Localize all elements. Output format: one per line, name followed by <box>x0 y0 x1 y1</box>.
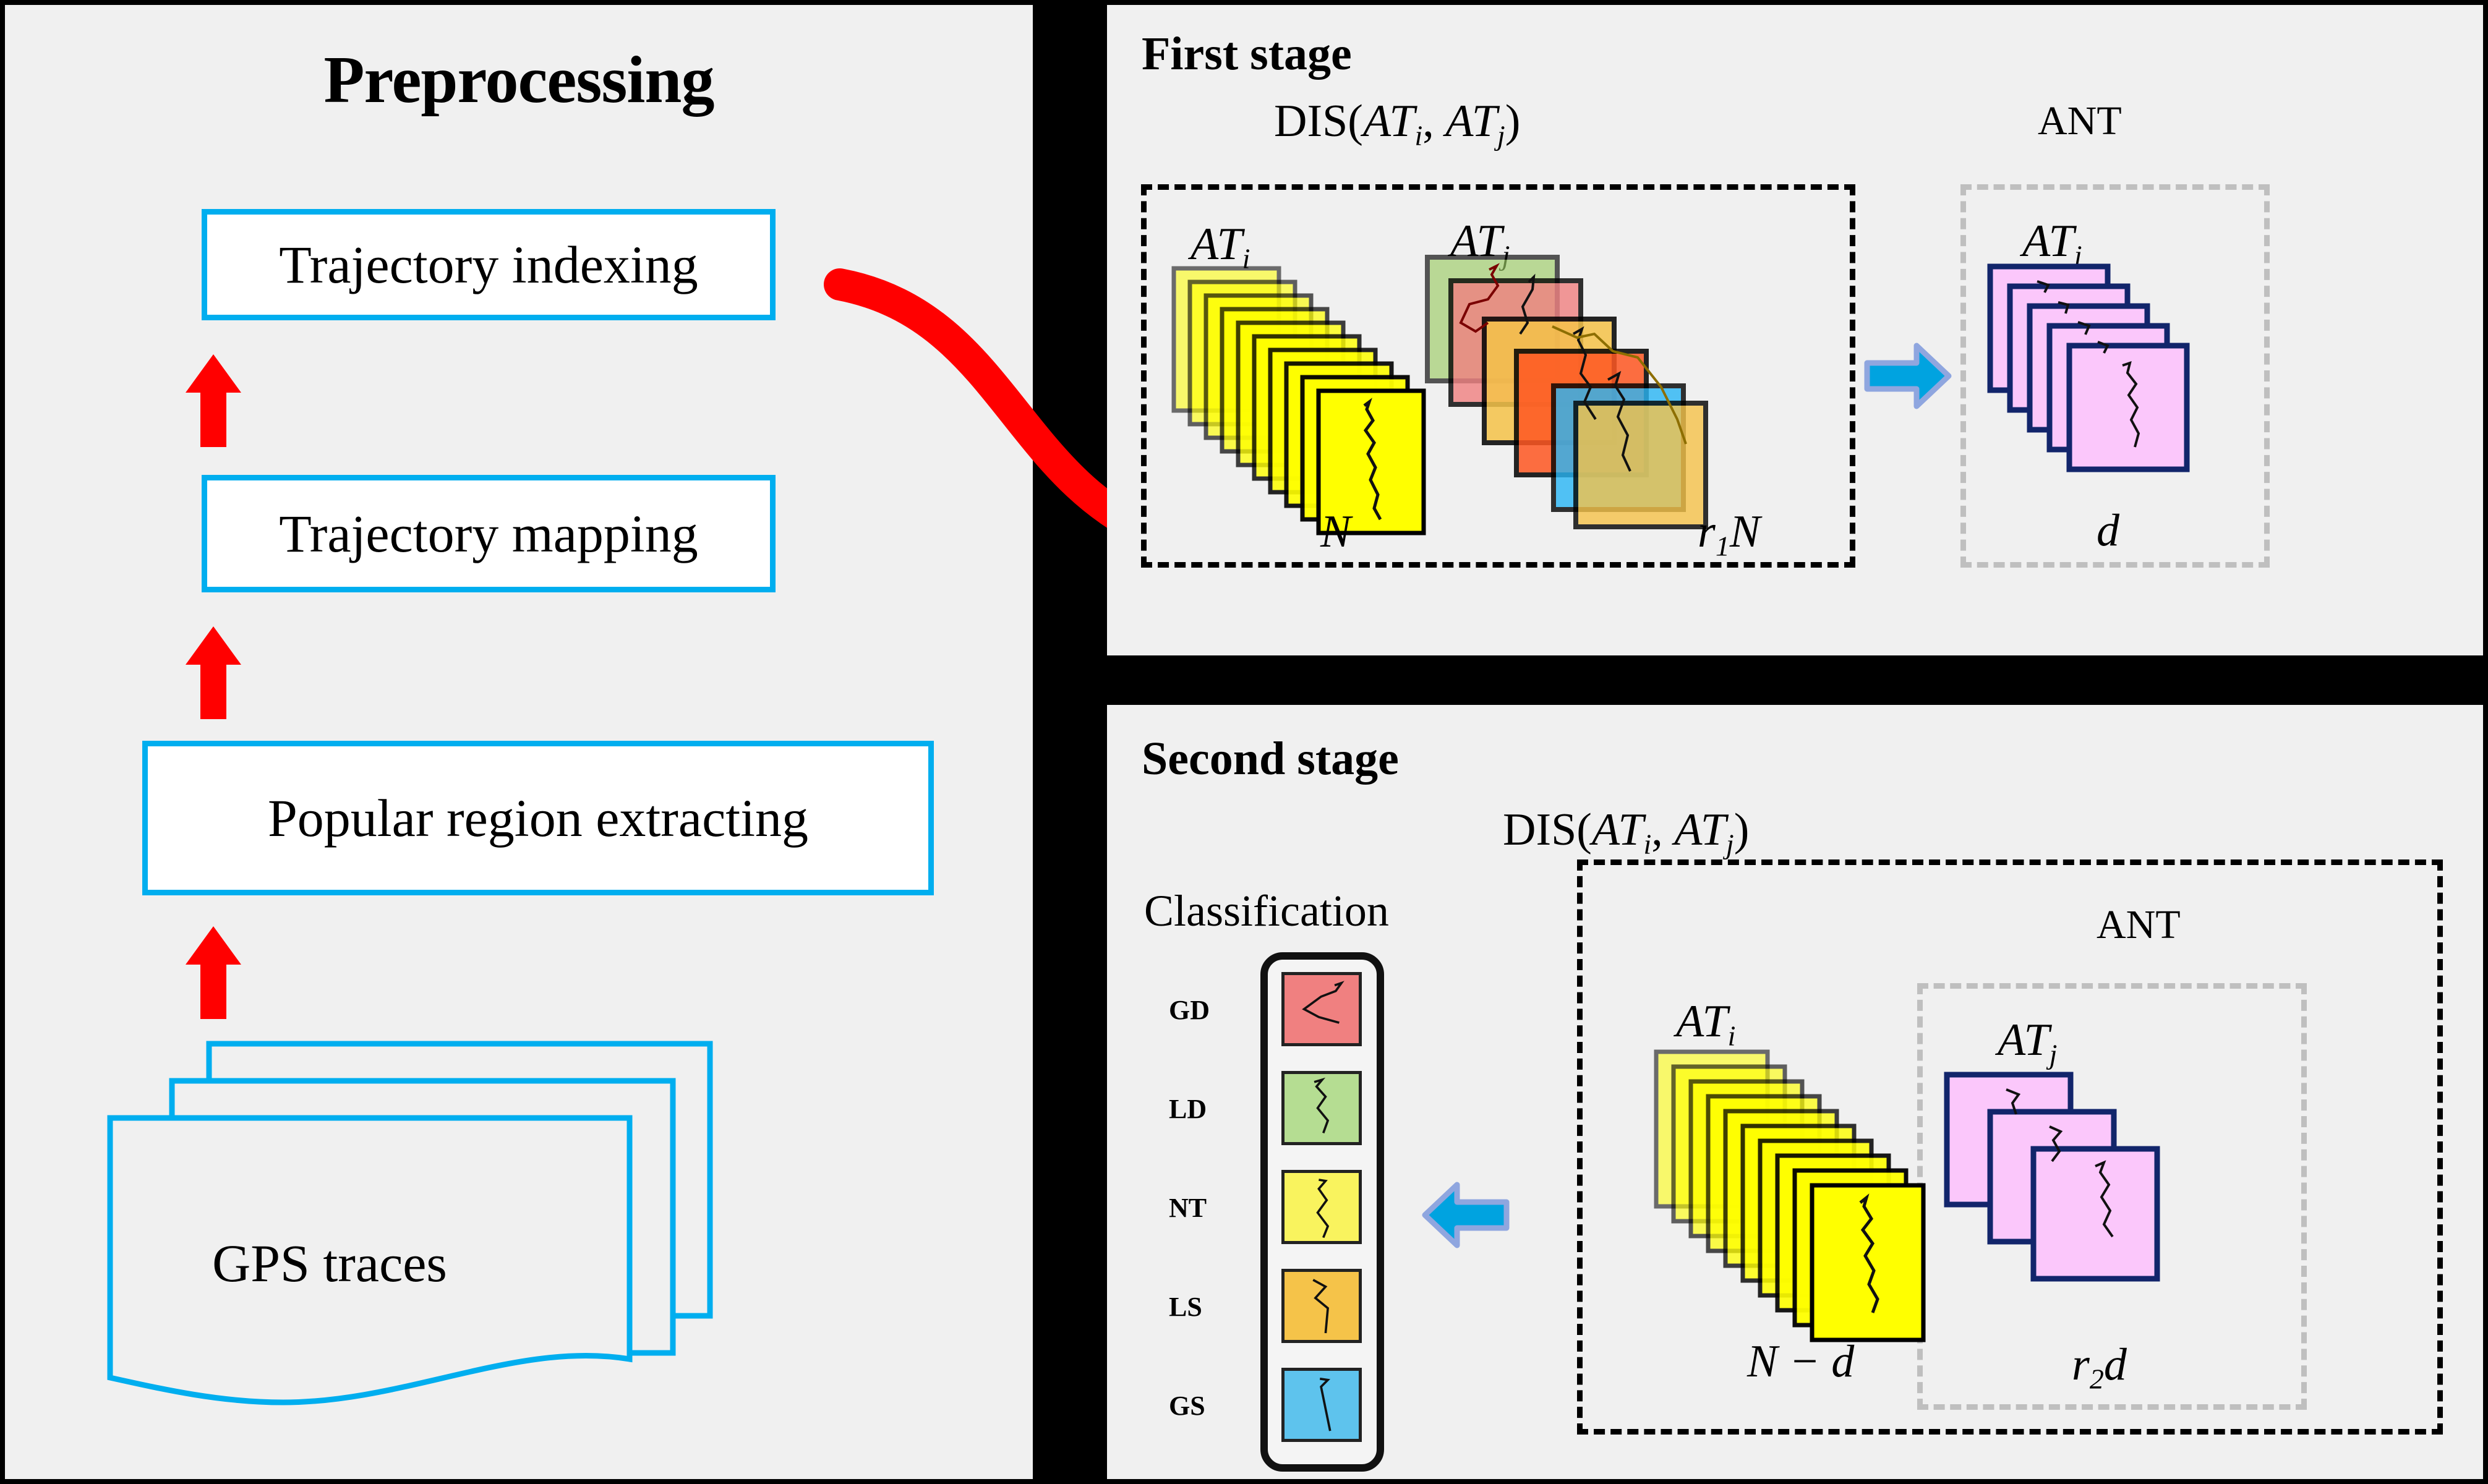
step-label: Trajectory mapping <box>279 503 698 565</box>
diagram-canvas: Preprocessing Trajectory indexing Trajec… <box>0 0 2488 1484</box>
r1n-base: r <box>1698 506 1716 557</box>
class-chip-ld <box>1281 1071 1362 1145</box>
class-chip-nt <box>1281 1170 1362 1244</box>
class-chip-gs <box>1281 1368 1362 1442</box>
step-label: Popular region extracting <box>268 787 808 849</box>
dis-a: AT <box>1363 96 1415 147</box>
first-stage-d-label: d <box>2097 505 2119 557</box>
page-title: Preprocessing <box>5 42 1033 119</box>
first-stage-multicolor-card-stack <box>1422 252 1868 561</box>
r1n-sub: 1 <box>1716 531 1730 562</box>
first-stage-pink-card-stack <box>1985 262 2257 521</box>
dis-b-sub: j <box>1497 120 1505 151</box>
dis2-b: AT <box>1674 804 1726 855</box>
dis-close: ) <box>1505 96 1521 147</box>
class-chip-gd <box>1281 972 1362 1046</box>
first-stage-r1n-label: r1N <box>1698 506 1760 563</box>
preprocessing-panel: Preprocessing Trajectory indexing Trajec… <box>5 5 1033 1479</box>
classification-title: Classification <box>1144 885 1389 937</box>
dis-a-sub: i <box>1415 120 1423 151</box>
ant-atj-base: AT <box>2022 216 2074 267</box>
second-stage-ant-atj-label: ATj <box>1998 1014 2057 1071</box>
class-label-ls: LS <box>1169 1291 1202 1323</box>
second-stage-n-minus-d-label: N − d <box>1747 1336 1854 1388</box>
second-stage-panel: Second stage DIS(ATi, ATj) Classificatio… <box>1107 705 2483 1479</box>
dis2-comma: , <box>1651 804 1674 855</box>
dis-b: AT <box>1445 96 1497 147</box>
dis2-fn: DIS( <box>1503 804 1592 855</box>
blue-right-arrow-icon <box>1865 342 1951 410</box>
first-stage-dis-label: DIS(ATi, ATj) <box>1274 95 1520 152</box>
second-stage-ati-label: ATi <box>1676 996 1735 1052</box>
ati2-sub: i <box>1728 1020 1736 1052</box>
dis2-a-sub: i <box>1644 829 1652 860</box>
second-stage-ant-label: ANT <box>2097 902 2181 949</box>
step-box-trajectory-indexing[interactable]: Trajectory indexing <box>202 209 776 320</box>
dis2-a: AT <box>1592 804 1644 855</box>
class-label-ld: LD <box>1169 1093 1207 1125</box>
class-chip-ls <box>1281 1269 1362 1343</box>
ati2-base: AT <box>1676 996 1728 1047</box>
red-up-arrow-2 <box>186 626 241 719</box>
ant2-atj-sub: j <box>2050 1039 2058 1070</box>
blue-left-arrow-icon <box>1416 1181 1509 1249</box>
second-stage-dis-label: DIS(ATi, ATj) <box>1503 804 1749 861</box>
r2d-base: r <box>2072 1339 2090 1390</box>
gps-traces-documents <box>85 1031 827 1415</box>
step-box-popular-region-extracting[interactable]: Popular region extracting <box>142 741 934 895</box>
gps-traces-label: GPS traces <box>5 1232 654 1294</box>
step-label: Trajectory indexing <box>279 234 698 296</box>
class-label-nt: NT <box>1169 1192 1207 1224</box>
second-stage-title: Second stage <box>1142 732 1399 786</box>
second-stage-pink-card-stack <box>1942 1070 2264 1336</box>
r1n-tail: N <box>1730 506 1760 557</box>
ant2-atj-base: AT <box>1998 1015 2050 1065</box>
dis-comma: , <box>1422 96 1445 147</box>
step-box-trajectory-mapping[interactable]: Trajectory mapping <box>202 475 776 592</box>
class-label-gs: GS <box>1169 1390 1205 1422</box>
dis2-b-sub: j <box>1726 829 1734 860</box>
second-stage-r2d-label: r2d <box>2072 1339 2127 1396</box>
dis2-close: ) <box>1734 804 1750 855</box>
r2d-tail: d <box>2104 1339 2127 1390</box>
red-up-arrow-3 <box>186 926 241 1019</box>
red-up-arrow-1 <box>186 354 241 447</box>
first-stage-ant-label: ANT <box>2038 98 2122 145</box>
dis-fn: DIS( <box>1274 96 1363 147</box>
ati-base: AT <box>1191 219 1242 270</box>
first-stage-n-label: N <box>1320 506 1351 558</box>
r2d-sub: 2 <box>2090 1363 2104 1395</box>
class-label-gd: GD <box>1169 994 1210 1026</box>
first-stage-panel: First stage DIS(ATi, ATj) ANT ATi ATj <box>1107 5 2483 655</box>
first-stage-title: First stage <box>1142 27 1352 81</box>
